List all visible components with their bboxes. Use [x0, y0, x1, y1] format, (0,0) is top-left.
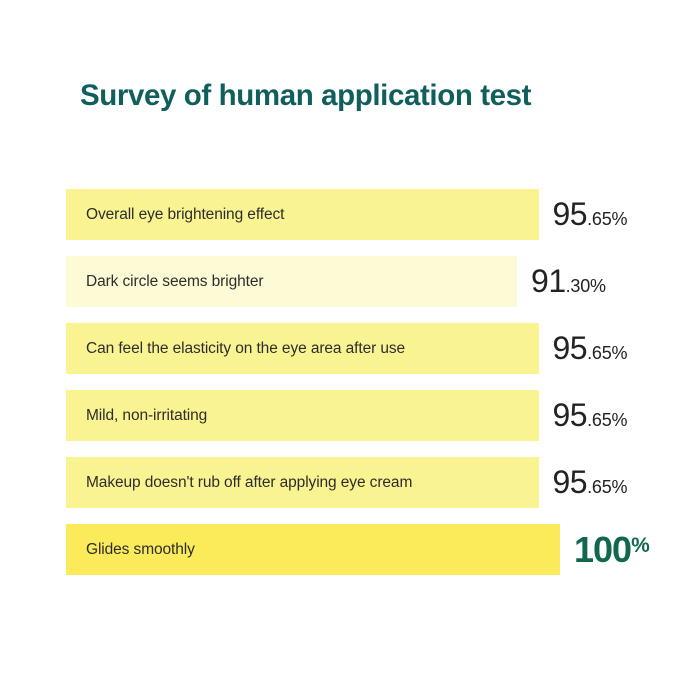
bar-label: Glides smoothly	[86, 524, 195, 575]
bar-label: Makeup doesn't rub off after applying ey…	[86, 457, 412, 508]
survey-chart-page: Survey of human application test Overall…	[0, 0, 679, 679]
bar-row: Can feel the elasticity on the eye area …	[0, 323, 679, 374]
bar-value-number: 91	[531, 256, 566, 307]
bar-value-fraction: .65%	[587, 194, 627, 245]
bar-value-number: 95	[553, 189, 588, 240]
bar-track: Dark circle seems brighter91.30%	[66, 256, 679, 307]
bar-value: 95.65%	[553, 390, 628, 441]
bar-track: Mild, non-irritating95.65%	[66, 390, 679, 441]
page-title: Survey of human application test	[80, 79, 531, 113]
bar-value-fraction: %	[631, 520, 649, 571]
bar-label: Mild, non-irritating	[86, 390, 207, 441]
bar-track: Overall eye brightening effect95.65%	[66, 189, 679, 240]
bar-row: Mild, non-irritating95.65%	[0, 390, 679, 441]
bar-row: Makeup doesn't rub off after applying ey…	[0, 457, 679, 508]
bar-value-fraction: .65%	[587, 328, 627, 379]
bar-value-fraction: .65%	[587, 395, 627, 446]
bar-value-fraction: .65%	[587, 462, 627, 513]
bar-value-number: 100	[574, 524, 631, 575]
bar-label: Can feel the elasticity on the eye area …	[86, 323, 405, 374]
bar-value-number: 95	[553, 390, 588, 441]
bar-value: 95.65%	[553, 189, 628, 240]
bar-value: 91.30%	[531, 256, 606, 307]
bar-label: Overall eye brightening effect	[86, 189, 284, 240]
bar-row: Glides smoothly100%	[0, 524, 679, 575]
bar-chart: Overall eye brightening effect95.65%Dark…	[0, 189, 679, 591]
bar-track: Makeup doesn't rub off after applying ey…	[66, 457, 679, 508]
bar-track: Glides smoothly100%	[66, 524, 679, 575]
bar-row: Dark circle seems brighter91.30%	[0, 256, 679, 307]
bar-track: Can feel the elasticity on the eye area …	[66, 323, 679, 374]
bar-row: Overall eye brightening effect95.65%	[0, 189, 679, 240]
bar-value-fraction: .30%	[566, 261, 606, 312]
bar-label: Dark circle seems brighter	[86, 256, 263, 307]
bar-value: 100%	[574, 524, 650, 575]
bar-value: 95.65%	[553, 323, 628, 374]
bar-value: 95.65%	[553, 457, 628, 508]
bar-value-number: 95	[553, 457, 588, 508]
bar-value-number: 95	[553, 323, 588, 374]
